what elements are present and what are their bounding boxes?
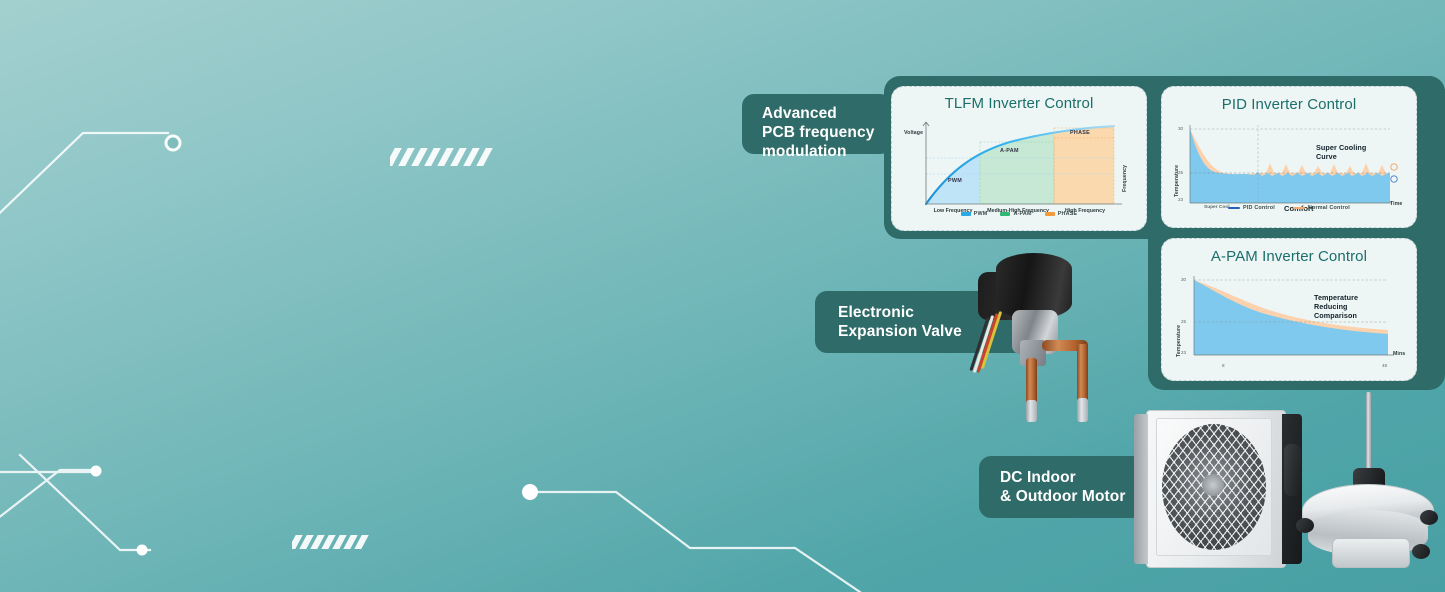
outdoor-unit-image: [1134, 404, 1304, 572]
band-label-phase: PHASE: [1070, 130, 1090, 136]
legend-label-apam: A-PAM: [1013, 211, 1031, 217]
ytick-30-pid: 30: [1178, 126, 1183, 131]
legend-label-phase: PHASE: [1058, 211, 1078, 217]
ytick-25-pid: 25: [1178, 170, 1183, 175]
axis-label-frequency: Frequency: [1122, 165, 1128, 192]
chart-legend-tlfm: PWM A-PAM PHASE: [892, 211, 1146, 217]
annotation-super-cooling-curve: Super Cooling Curve: [1316, 143, 1402, 161]
chart-title-apam: A-PAM Inverter Control: [1162, 239, 1416, 265]
deco-dot-low: [137, 545, 148, 556]
deco-stripes-top: [390, 148, 494, 166]
legend-item-normal-control: Normal Control: [1293, 205, 1350, 211]
legend-swatch-pwm: [961, 212, 971, 215]
expansion-valve-image: [960, 248, 1140, 426]
deco-line-midleft-c: [20, 455, 150, 550]
ytick-23-pid: 23: [1178, 197, 1183, 202]
chart-card-tlfm: TLFM Inverter Control Voltage Frequency: [891, 86, 1147, 231]
axis-label-voltage: Voltage: [904, 130, 923, 136]
fan-motor-image: [1294, 392, 1444, 572]
legend-swatch-pid-control: [1228, 207, 1240, 210]
chart-title-pid: PID Inverter Control: [1162, 87, 1416, 113]
deco-dot-ring-outer: [165, 135, 182, 152]
legend-item-pwm: PWM: [961, 211, 988, 217]
chart-plot-apam: Temperature Mins 30 25 23 Temperature Re…: [1162, 265, 1416, 383]
legend-label-pid-control: PID Control: [1243, 205, 1275, 211]
chart-card-pid: PID Inverter Control Temperature Time 30…: [1161, 86, 1417, 228]
callout-electronic-expansion-valve: Electronic Expansion Valve: [838, 304, 962, 342]
legend-item-pid-control: PID Control: [1228, 205, 1275, 211]
legend-swatch-phase: [1045, 212, 1055, 215]
band-label-pwm: PWM: [948, 178, 962, 184]
xtick-8: 8: [1222, 363, 1225, 368]
callout-advanced-pcb-frequency-modulation: Advanced PCB frequency modulation: [742, 94, 892, 154]
legend-label-normal-control: Normal Control: [1308, 205, 1350, 211]
apam-chart-svg: [1162, 265, 1418, 383]
ytick-25-apam: 25: [1181, 319, 1186, 324]
band-label-apam: A-PAM: [1000, 148, 1019, 154]
legend-swatch-apam: [1000, 212, 1010, 215]
deco-line-topleft: [0, 133, 168, 232]
deco-dot-bottom: [522, 484, 538, 500]
legend-item-apam: A-PAM: [1000, 211, 1031, 217]
legend-label-pwm: PWM: [974, 211, 988, 217]
annotation-temperature-reducing-comparison: Temperature Reducing Comparison: [1314, 293, 1406, 321]
deco-line-bottom: [530, 492, 860, 592]
deco-dot-mid: [91, 466, 102, 477]
legend-swatch-normal-control: [1293, 207, 1305, 210]
ytick-23-apam: 23: [1181, 350, 1186, 355]
deco-stripes-bottom: [292, 535, 370, 549]
chart-plot-tlfm: Voltage Frequency: [892, 112, 1146, 224]
deco-line-midleft-b: [0, 470, 90, 540]
chart-legend-pid: PID Control Normal Control: [1162, 205, 1416, 211]
axis-label-mins: Mins: [1393, 351, 1405, 357]
xtick-48: 48: [1382, 363, 1387, 368]
deco-dot-ring-inner: [168, 138, 179, 149]
callout-dc-indoor-outdoor-motor: DC Indoor & Outdoor Motor: [1000, 469, 1125, 507]
ytick-30-apam: 30: [1181, 277, 1186, 282]
legend-item-phase: PHASE: [1045, 211, 1078, 217]
chart-card-apam: A-PAM Inverter Control Temperature Mins …: [1161, 238, 1417, 381]
chart-title-tlfm: TLFM Inverter Control: [892, 87, 1146, 112]
